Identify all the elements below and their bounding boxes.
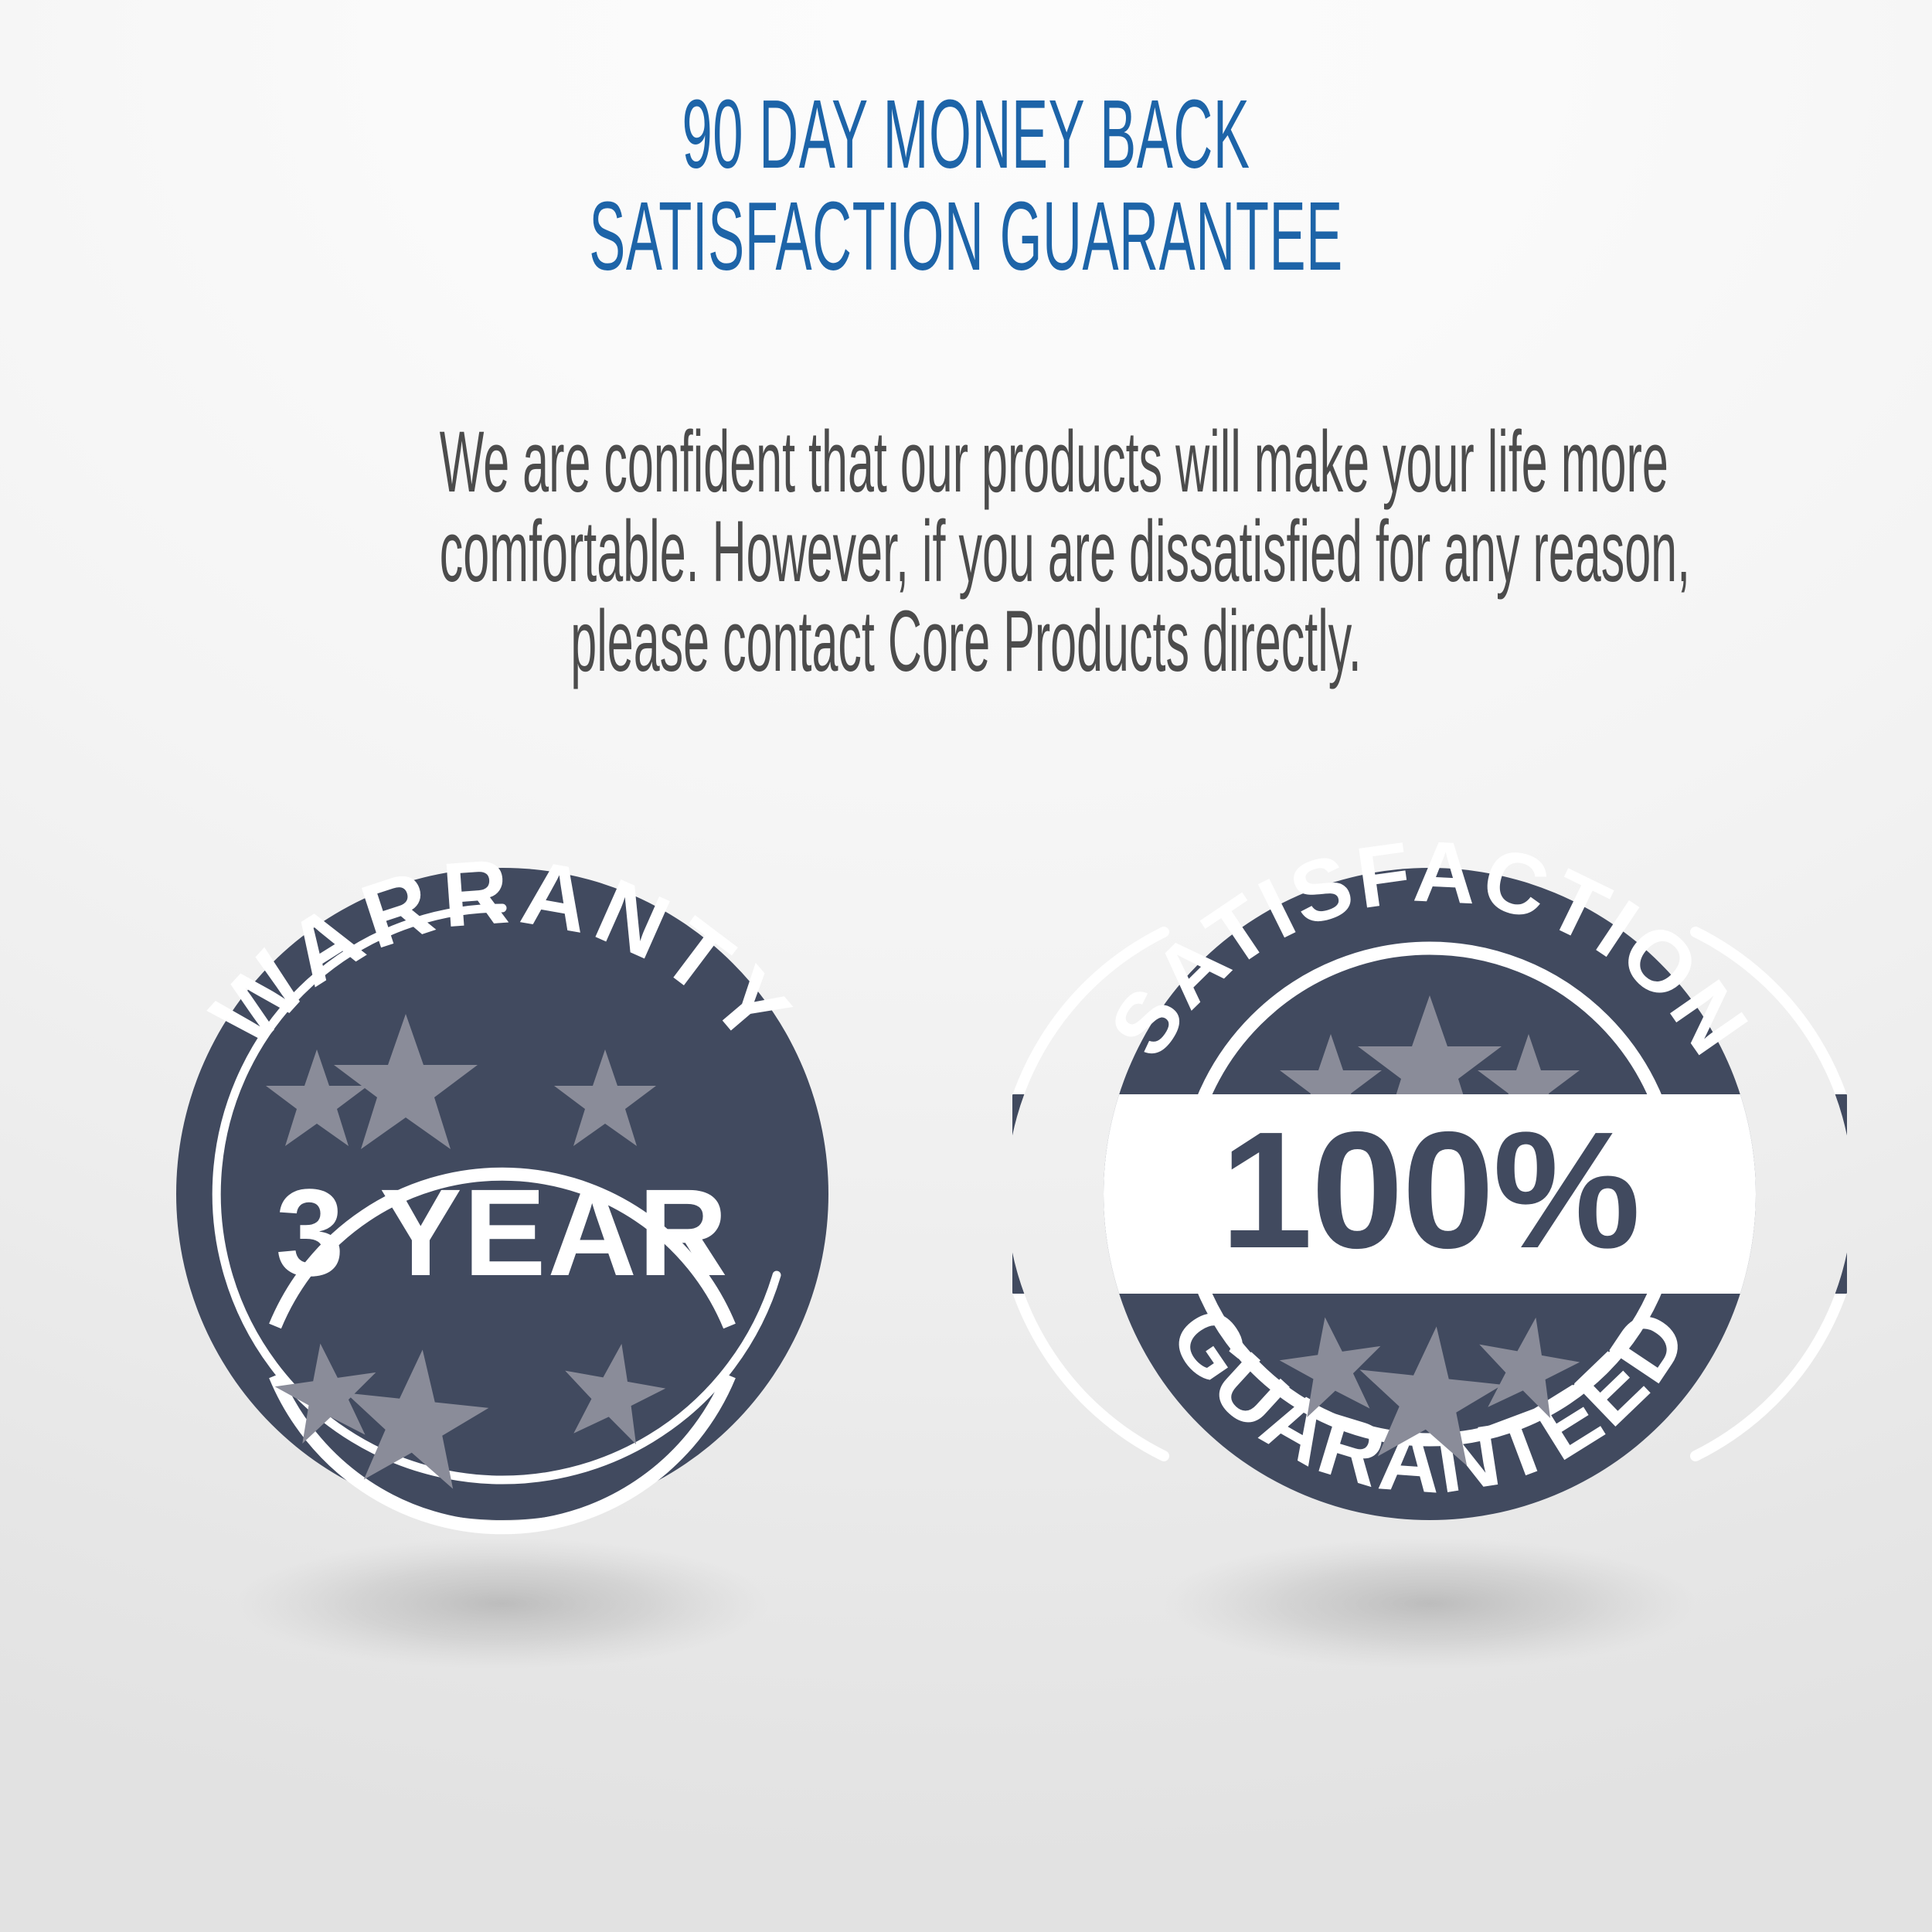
guarantee-panel: 90 DAY MONEY BACK SATISFACTION GUARANTEE… — [0, 0, 1932, 1932]
paragraph-line-1: We are confident that our products will … — [440, 417, 1493, 507]
paragraph-line-2: comfortable. However, if you are dissati… — [440, 507, 1493, 597]
satisfaction-band-text: 100% — [1220, 1097, 1639, 1283]
warranty-center-text: 3 YEAR — [275, 1163, 729, 1301]
headline-line-1: 90 DAY MONEY BACK — [425, 83, 1507, 185]
paragraph-line-3: please contact Core Products directly. — [440, 597, 1493, 686]
guarantee-description: We are confident that our products will … — [0, 417, 1932, 686]
badge-row: WARRANTY 3 YEAR — [0, 804, 1932, 1731]
warranty-seal: WARRANTY 3 YEAR — [85, 804, 920, 1669]
satisfaction-seal: SATISFACTION GUARANTEED — [1012, 804, 1847, 1669]
satisfaction-shadow — [1163, 1538, 1696, 1669]
satisfaction-seal-graphic: SATISFACTION GUARANTEED — [1012, 804, 1847, 1669]
headline-line-2: SATISFACTION GUARANTEE — [425, 185, 1507, 287]
warranty-seal-graphic: WARRANTY 3 YEAR — [85, 804, 920, 1669]
page-title: 90 DAY MONEY BACK SATISFACTION GUARANTEE — [0, 83, 1932, 287]
warranty-shadow — [236, 1538, 769, 1669]
